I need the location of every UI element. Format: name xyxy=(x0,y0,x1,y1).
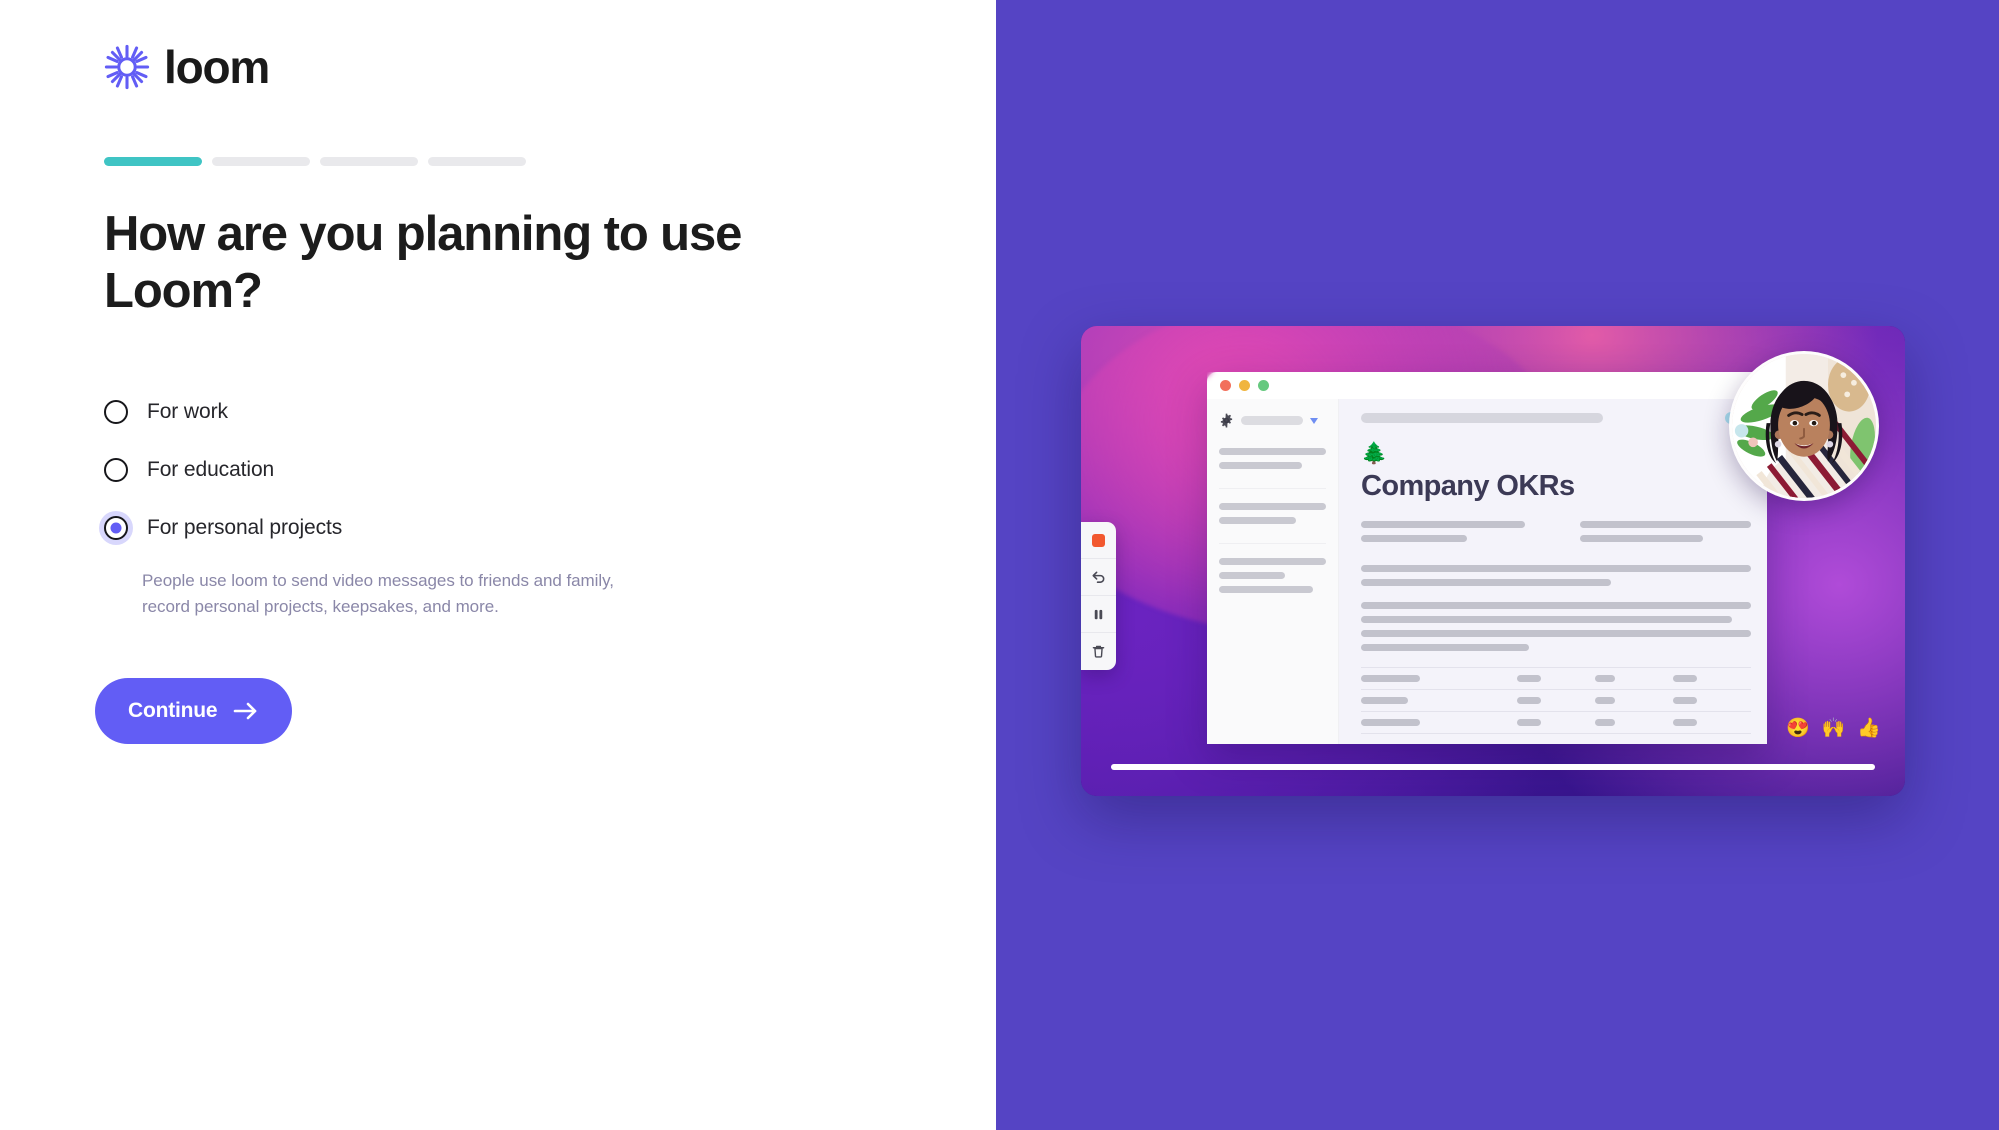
table-cell xyxy=(1517,675,1595,682)
document-column xyxy=(1361,521,1532,549)
loom-wordmark: loom xyxy=(164,44,269,90)
option-for-personal-projects[interactable]: For personal projects xyxy=(104,508,744,548)
arrow-right-icon xyxy=(233,701,259,721)
stop-recording-icon xyxy=(1092,534,1105,547)
pause-icon xyxy=(1091,607,1106,622)
continue-button[interactable]: Continue xyxy=(95,678,292,744)
undo-button[interactable] xyxy=(1081,559,1116,596)
document-paragraph-block xyxy=(1361,602,1751,651)
sidebar-placeholder-line xyxy=(1219,572,1285,579)
document-sidebar xyxy=(1207,399,1339,744)
video-progress-fill xyxy=(1111,764,1875,770)
table-row xyxy=(1361,712,1751,734)
document-table xyxy=(1361,667,1751,734)
table-row xyxy=(1361,668,1751,690)
promo-panel: 🌲 Company OKRs xyxy=(996,0,1999,1130)
radio-for-personal-projects[interactable] xyxy=(104,516,128,540)
video-progress-bar[interactable] xyxy=(1111,764,1875,770)
window-titlebar xyxy=(1207,372,1767,399)
onboarding-page: loom How are you planning to use Loom? F… xyxy=(0,0,1999,1130)
option-label-for-personal-projects: For personal projects xyxy=(147,516,342,540)
emoji-reactions: 😍 🙌 👍 xyxy=(1786,719,1881,738)
gear-icon xyxy=(1219,413,1234,428)
sidebar-placeholder-line xyxy=(1219,503,1326,510)
undo-icon xyxy=(1091,570,1106,585)
loom-video-preview: 🌲 Company OKRs xyxy=(1081,326,1905,796)
table-cell xyxy=(1595,719,1673,726)
sidebar-workspace-row[interactable] xyxy=(1219,413,1326,428)
text-placeholder-line xyxy=(1361,565,1751,572)
document-emoji: 🌲 xyxy=(1361,443,1751,464)
delete-recording-button[interactable] xyxy=(1081,633,1116,670)
sidebar-placeholder-line xyxy=(1219,448,1326,455)
text-placeholder-line xyxy=(1361,535,1467,542)
table-cell xyxy=(1361,697,1517,704)
option-label-for-education: For education xyxy=(147,458,274,482)
page-title: How are you planning to use Loom? xyxy=(104,206,864,320)
table-cell xyxy=(1517,719,1595,726)
recorder-toolbar xyxy=(1081,522,1116,670)
progress-segment-1 xyxy=(104,157,202,166)
text-placeholder-line xyxy=(1361,616,1732,623)
stop-recording-button[interactable] xyxy=(1081,522,1116,559)
table-cell xyxy=(1361,675,1517,682)
window-close-dot xyxy=(1220,380,1231,391)
sidebar-group xyxy=(1219,558,1326,612)
option-label-for-work: For work xyxy=(147,400,228,424)
text-placeholder-line xyxy=(1580,535,1703,542)
table-cell xyxy=(1595,697,1673,704)
text-placeholder-line xyxy=(1361,521,1525,528)
text-placeholder-line xyxy=(1361,630,1751,637)
trash-icon xyxy=(1091,644,1106,659)
presenter-video-frame xyxy=(1732,354,1876,498)
sidebar-group xyxy=(1219,503,1326,544)
loom-sunburst-icon xyxy=(104,44,150,90)
window-maximize-dot xyxy=(1258,380,1269,391)
usage-options-group: For work For education For personal proj… xyxy=(104,392,744,548)
pause-button[interactable] xyxy=(1081,596,1116,633)
left-panel: loom How are you planning to use Loom? F… xyxy=(0,0,996,1130)
document-title: Company OKRs xyxy=(1361,470,1751,503)
document-two-column-block xyxy=(1361,521,1751,549)
table-cell xyxy=(1517,697,1595,704)
document-header-placeholder xyxy=(1361,413,1603,423)
text-placeholder-line xyxy=(1580,521,1751,528)
document-column xyxy=(1580,521,1751,549)
sidebar-group xyxy=(1219,448,1326,489)
reaction-raising-hands-icon[interactable]: 🙌 xyxy=(1822,719,1846,738)
workspace-name-placeholder xyxy=(1241,416,1303,425)
table-row xyxy=(1361,690,1751,712)
sidebar-placeholder-line xyxy=(1219,586,1313,593)
document-content: 🌲 Company OKRs xyxy=(1339,399,1767,744)
radio-for-work[interactable] xyxy=(104,400,128,424)
table-cell xyxy=(1673,675,1751,682)
loom-logo[interactable]: loom xyxy=(104,44,269,90)
option-for-education[interactable]: For education xyxy=(104,450,744,490)
text-placeholder-line xyxy=(1361,602,1751,609)
reaction-heart-eyes-icon[interactable]: 😍 xyxy=(1786,719,1810,738)
text-placeholder-line xyxy=(1361,579,1611,586)
table-cell xyxy=(1595,675,1673,682)
progress-segment-2 xyxy=(212,157,310,166)
reaction-thumbs-up-icon[interactable]: 👍 xyxy=(1857,719,1881,738)
presenter-webcam-bubble xyxy=(1729,351,1879,501)
table-cell xyxy=(1361,719,1517,726)
option-for-work[interactable]: For work xyxy=(104,392,744,432)
onboarding-progress xyxy=(104,157,526,166)
progress-segment-4 xyxy=(428,157,526,166)
chevron-down-icon xyxy=(1310,418,1318,424)
sidebar-placeholder-line xyxy=(1219,517,1296,524)
continue-button-label: Continue xyxy=(128,699,217,723)
table-cell xyxy=(1673,719,1751,726)
radio-for-education[interactable] xyxy=(104,458,128,482)
table-cell xyxy=(1673,697,1751,704)
sidebar-placeholder-line xyxy=(1219,558,1326,565)
document-paragraph-block xyxy=(1361,565,1751,586)
progress-segment-3 xyxy=(320,157,418,166)
option-helper-text: People use loom to send video messages t… xyxy=(142,568,642,621)
mock-document-window: 🌲 Company OKRs xyxy=(1207,372,1767,744)
sidebar-placeholder-line xyxy=(1219,462,1302,469)
window-body: 🌲 Company OKRs xyxy=(1207,399,1767,744)
window-minimize-dot xyxy=(1239,380,1250,391)
text-placeholder-line xyxy=(1361,644,1529,651)
